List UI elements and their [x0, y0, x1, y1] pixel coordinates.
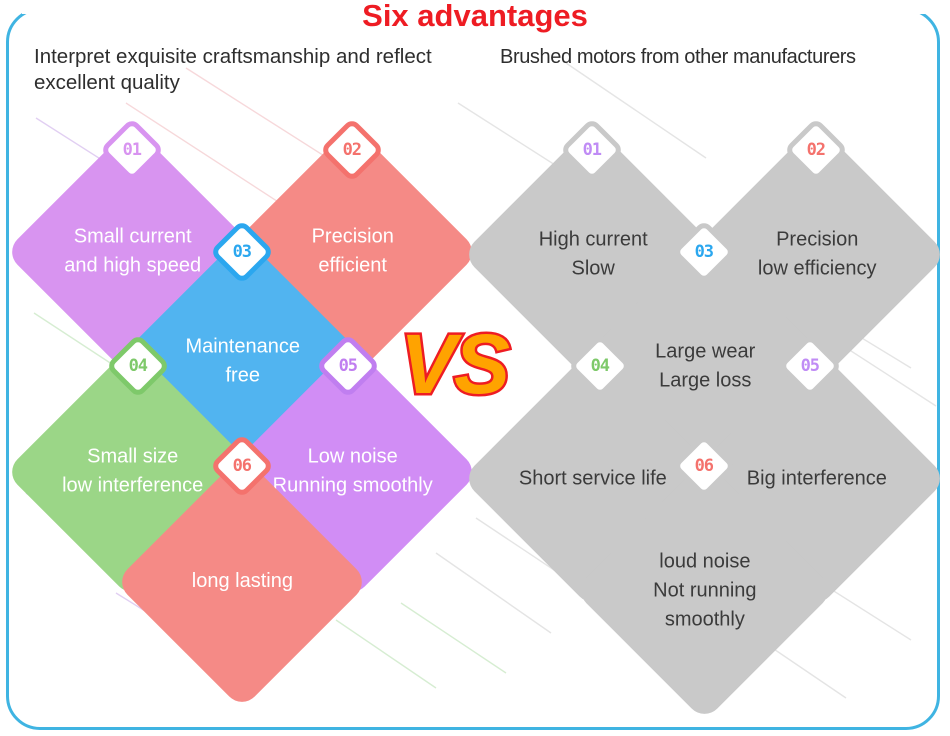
badge-right-06-number: 06: [695, 457, 713, 474]
badge-left-03-number: 03: [233, 243, 251, 260]
badge-left-04-number: 04: [129, 357, 147, 374]
badge-left-06-number: 06: [233, 457, 251, 474]
infographic-root: Six advantages Interpret exquisite craft…: [0, 0, 950, 736]
badge-right-05-number: 05: [801, 357, 819, 374]
left-column-header: Interpret exquisite craftsmanship and re…: [34, 44, 464, 96]
badge-left-05-number: 05: [339, 357, 357, 374]
vs-badge: VS: [400, 322, 508, 406]
diamond-left-06-label: long lasting: [122, 567, 362, 596]
diamond-text-line: long lasting: [122, 567, 362, 596]
diamond-text-line: loud noise: [585, 547, 825, 576]
right-column-header: Brushed motors from other manufacturers: [500, 44, 940, 70]
diamond-text-line: Precision: [697, 225, 937, 254]
badge-right-03-number: 03: [695, 243, 713, 260]
page-title: Six advantages: [0, 0, 950, 34]
badge-right-01-number: 01: [583, 141, 601, 158]
diamond-text-line: Not running: [585, 576, 825, 605]
diamond-text-line: smoothly: [585, 605, 825, 634]
badge-left-02-number: 02: [343, 141, 361, 158]
badge-left-01-number: 01: [123, 141, 141, 158]
badge-right-04-number: 04: [591, 357, 609, 374]
badge-right-02-number: 02: [807, 141, 825, 158]
diamond-right-06-label: loud noiseNot runningsmoothly: [585, 547, 825, 634]
